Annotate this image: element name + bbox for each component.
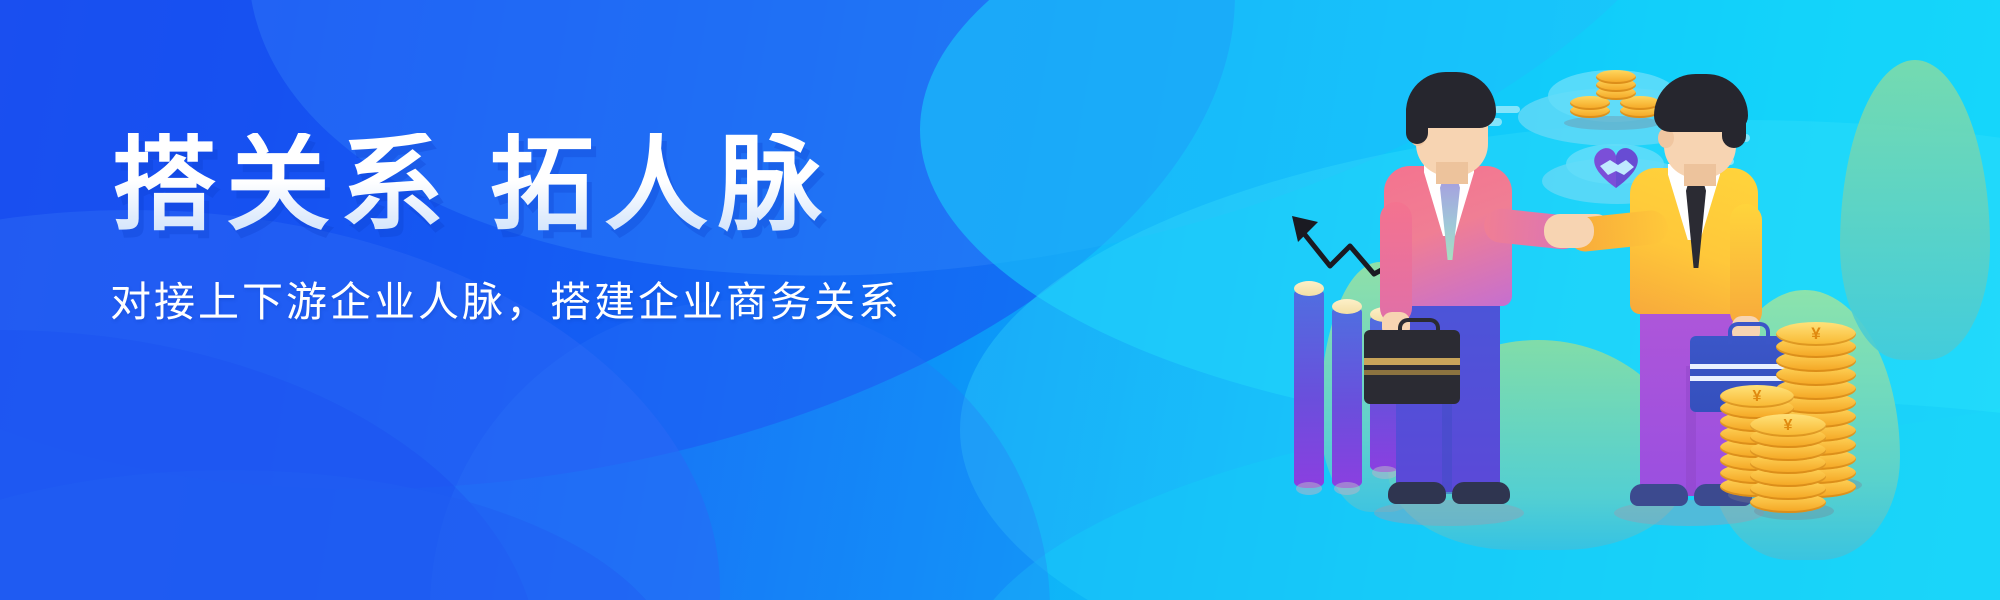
page-title: 搭关系拓人脉 xyxy=(112,133,832,237)
chart-bar-cap xyxy=(1332,299,1362,314)
person-left-shoe xyxy=(1452,482,1510,504)
coin-symbol: ¥ xyxy=(1750,414,1826,437)
illustration-handshake: ¥ ¥ ¥ xyxy=(1280,40,1980,580)
person-left-arm-down xyxy=(1380,202,1412,324)
person-left-briefcase-stripe xyxy=(1364,358,1460,365)
person-right-hand xyxy=(1544,214,1594,248)
chart-bar-base-shadow xyxy=(1334,482,1360,495)
copy-block: 搭关系拓人脉 对接上下游企业人脉，搭建企业商务关系 xyxy=(0,0,1000,600)
headline-part-2: 拓人脉 xyxy=(490,127,832,243)
person-left-neck xyxy=(1436,162,1468,184)
headline-part-1: 搭关系 xyxy=(112,127,454,243)
coin-symbol: ¥ xyxy=(1776,322,1856,346)
person-left xyxy=(1368,62,1598,532)
person-left-shoe xyxy=(1388,482,1446,504)
person-left-hair-side xyxy=(1406,100,1428,144)
person-left-briefcase-handle xyxy=(1398,318,1440,340)
coin-symbol: ¥ xyxy=(1720,385,1794,408)
chart-bar-base-shadow xyxy=(1296,482,1322,495)
person-right-hair-side xyxy=(1722,102,1746,148)
chart-bar xyxy=(1332,306,1362,488)
person-left-briefcase-stripe xyxy=(1364,370,1460,375)
person-right-neck xyxy=(1684,164,1716,186)
person-right-shoe xyxy=(1630,484,1688,506)
promo-banner: 搭关系拓人脉 对接上下游企业人脉，搭建企业商务关系 xyxy=(0,0,2000,600)
chart-bar xyxy=(1294,288,1324,488)
chart-bar-cap xyxy=(1294,281,1324,296)
page-subtitle: 对接上下游企业人脉，搭建企业商务关系 xyxy=(110,268,902,328)
coin-stacks-right: ¥ ¥ ¥ xyxy=(1732,290,1932,520)
person-left-briefcase xyxy=(1364,330,1460,404)
